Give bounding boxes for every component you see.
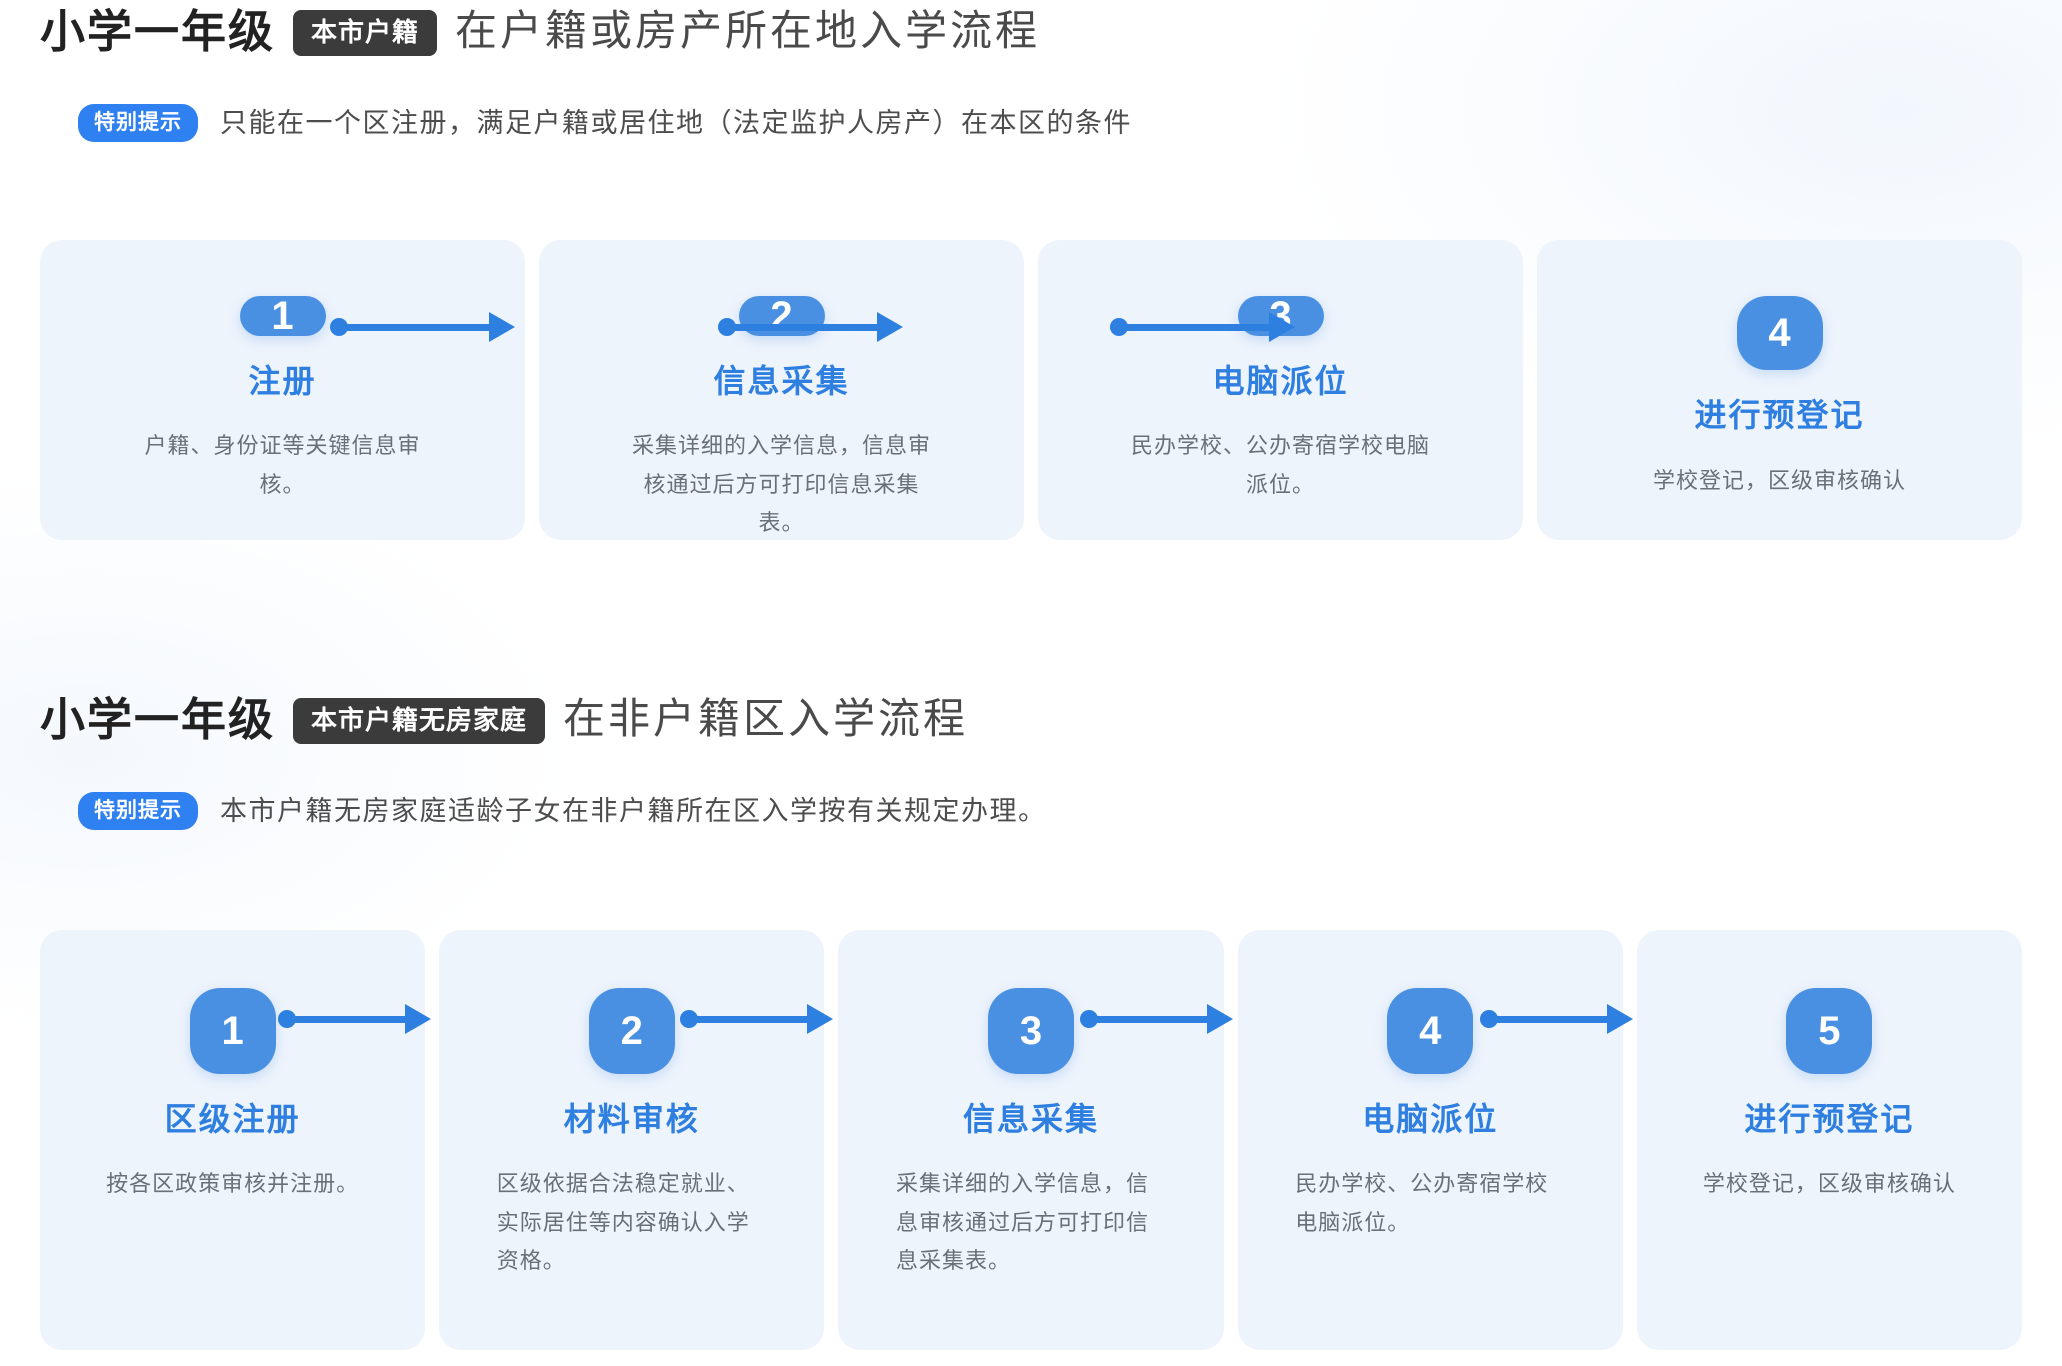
step-number-badge: 1 [190,988,276,1074]
status-badge: 本市户籍无房家庭 [293,698,545,744]
section-header: 小学一年级 本市户籍无房家庭 在非户籍区入学流程 [40,696,968,742]
step-number-badge: 3 [988,988,1074,1074]
step-number-badge: 5 [1786,988,1872,1074]
step-description: 采集详细的入学信息，信息审核通过后方可打印信息采集表。 [896,1165,1166,1281]
step-number-badge: 1 [240,296,326,336]
section-subtitle: 在非户籍区入学流程 [563,698,968,740]
tip-row: 特别提示 本市户籍无房家庭适龄子女在非户籍所在区入学按有关规定办理。 [78,792,1047,830]
step-description: 采集详细的入学信息，信息审核通过后方可打印信息采集表。 [632,427,932,543]
status-badge: 本市户籍 [293,10,437,56]
step-number-badge: 2 [589,988,675,1074]
tip-text: 只能在一个区注册，满足户籍或居住地（法定监护人房产）在本区的条件 [220,110,1132,137]
step-description: 民办学校、公办寄宿学校电脑派位。 [1295,1165,1565,1242]
tip-text: 本市户籍无房家庭适龄子女在非户籍所在区入学按有关规定办理。 [220,798,1047,825]
flow-step-card[interactable]: 4 电脑派位 民办学校、公办寄宿学校电脑派位。 [1238,930,1623,1350]
tip-row: 特别提示 只能在一个区注册，满足户籍或居住地（法定监护人房产）在本区的条件 [78,104,1132,142]
tip-badge: 特别提示 [78,104,198,142]
step-number-badge: 4 [1387,988,1473,1074]
step-description: 按各区政策审核并注册。 [106,1165,359,1204]
step-description: 学校登记，区级审核确认 [1703,1165,1956,1204]
flow-step-card[interactable]: 2 材料审核 区级依据合法稳定就业、实际居住等内容确认入学资格。 [439,930,824,1350]
step-title: 电脑派位 [1212,364,1348,399]
flow-step-card[interactable]: 2 信息采集 采集详细的入学信息，信息审核通过后方可打印信息采集表。 [539,240,1024,540]
flow-step-card[interactable]: 3 电脑派位 民办学校、公办寄宿学校电脑派位。 [1038,240,1523,540]
step-title: 注册 [248,364,316,399]
section-subtitle: 在户籍或房产所在地入学流程 [455,10,1040,52]
step-title: 信息采集 [713,364,849,399]
flow-step-card[interactable]: 5 进行预登记 学校登记，区级审核确认 [1637,930,2022,1350]
tip-badge: 特别提示 [78,792,198,830]
page-title: 小学一年级 [40,9,275,54]
flow-steps: 1 注册 户籍、身份证等关键信息审核。 2 信息采集 采集详细的入学信息，信息审… [40,240,2022,540]
flow-step-card[interactable]: 4 进行预登记 学校登记，区级审核确认 [1537,240,2022,540]
flow-steps: 1 区级注册 按各区政策审核并注册。 2 材料审核 区级依据合法稳定就业、实际居… [40,930,2022,1350]
flow-step-card[interactable]: 3 信息采集 采集详细的入学信息，信息审核通过后方可打印信息采集表。 [838,930,1223,1350]
step-number-badge: 3 [1238,296,1324,336]
step-title: 信息采集 [963,1102,1099,1137]
step-description: 区级依据合法稳定就业、实际居住等内容确认入学资格。 [497,1165,767,1281]
step-description: 民办学校、公办寄宿学校电脑派位。 [1131,427,1431,504]
step-number-badge: 2 [739,296,825,336]
step-title: 进行预登记 [1694,398,1864,433]
page-title: 小学一年级 [40,697,275,742]
flowchart-page: 小学一年级 本市户籍 在户籍或房产所在地入学流程 特别提示 只能在一个区注册，满… [0,0,2062,1366]
flow-step-card[interactable]: 1 注册 户籍、身份证等关键信息审核。 [40,240,525,540]
step-title: 材料审核 [564,1102,700,1137]
step-title: 进行预登记 [1744,1102,1914,1137]
step-description: 学校登记，区级审核确认 [1653,462,1906,501]
step-title: 区级注册 [165,1102,301,1137]
step-title: 电脑派位 [1362,1102,1498,1137]
flow-step-card[interactable]: 1 区级注册 按各区政策审核并注册。 [40,930,425,1350]
section-header: 小学一年级 本市户籍 在户籍或房产所在地入学流程 [40,8,1040,54]
step-number-badge: 4 [1737,296,1823,370]
step-description: 户籍、身份证等关键信息审核。 [133,427,433,504]
